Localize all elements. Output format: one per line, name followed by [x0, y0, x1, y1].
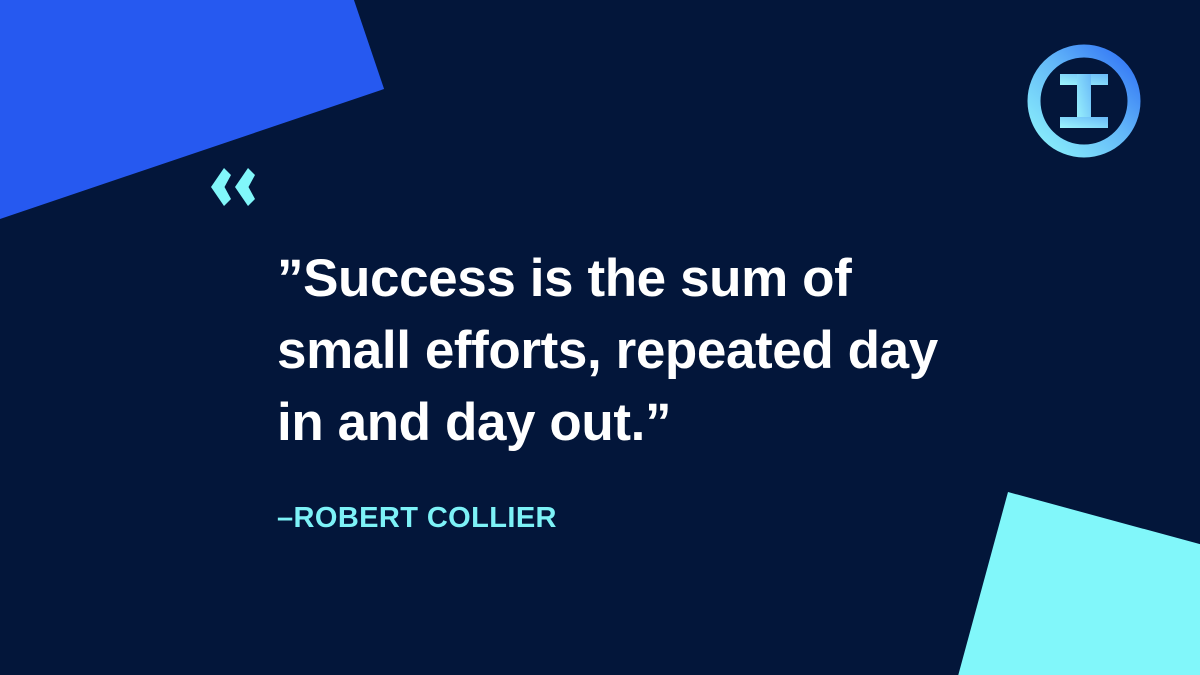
quote-line-1: ”Success is the sum of	[277, 243, 957, 315]
circled-letter-i-logo-icon	[1025, 42, 1143, 160]
quote-attribution: –ROBERT COLLIER	[277, 502, 557, 535]
quote-line-2: small efforts, repeated day	[277, 315, 957, 387]
quote-text: ”Success is the sum of small efforts, re…	[277, 243, 957, 459]
quote-line-3: in and day out.”	[277, 387, 957, 459]
decorative-blue-rectangle	[0, 0, 384, 240]
decorative-cyan-rectangle	[940, 492, 1200, 675]
quote-card: ”Success is the sum of small efforts, re…	[0, 0, 1200, 675]
double-chevron-left-icon	[201, 166, 259, 208]
